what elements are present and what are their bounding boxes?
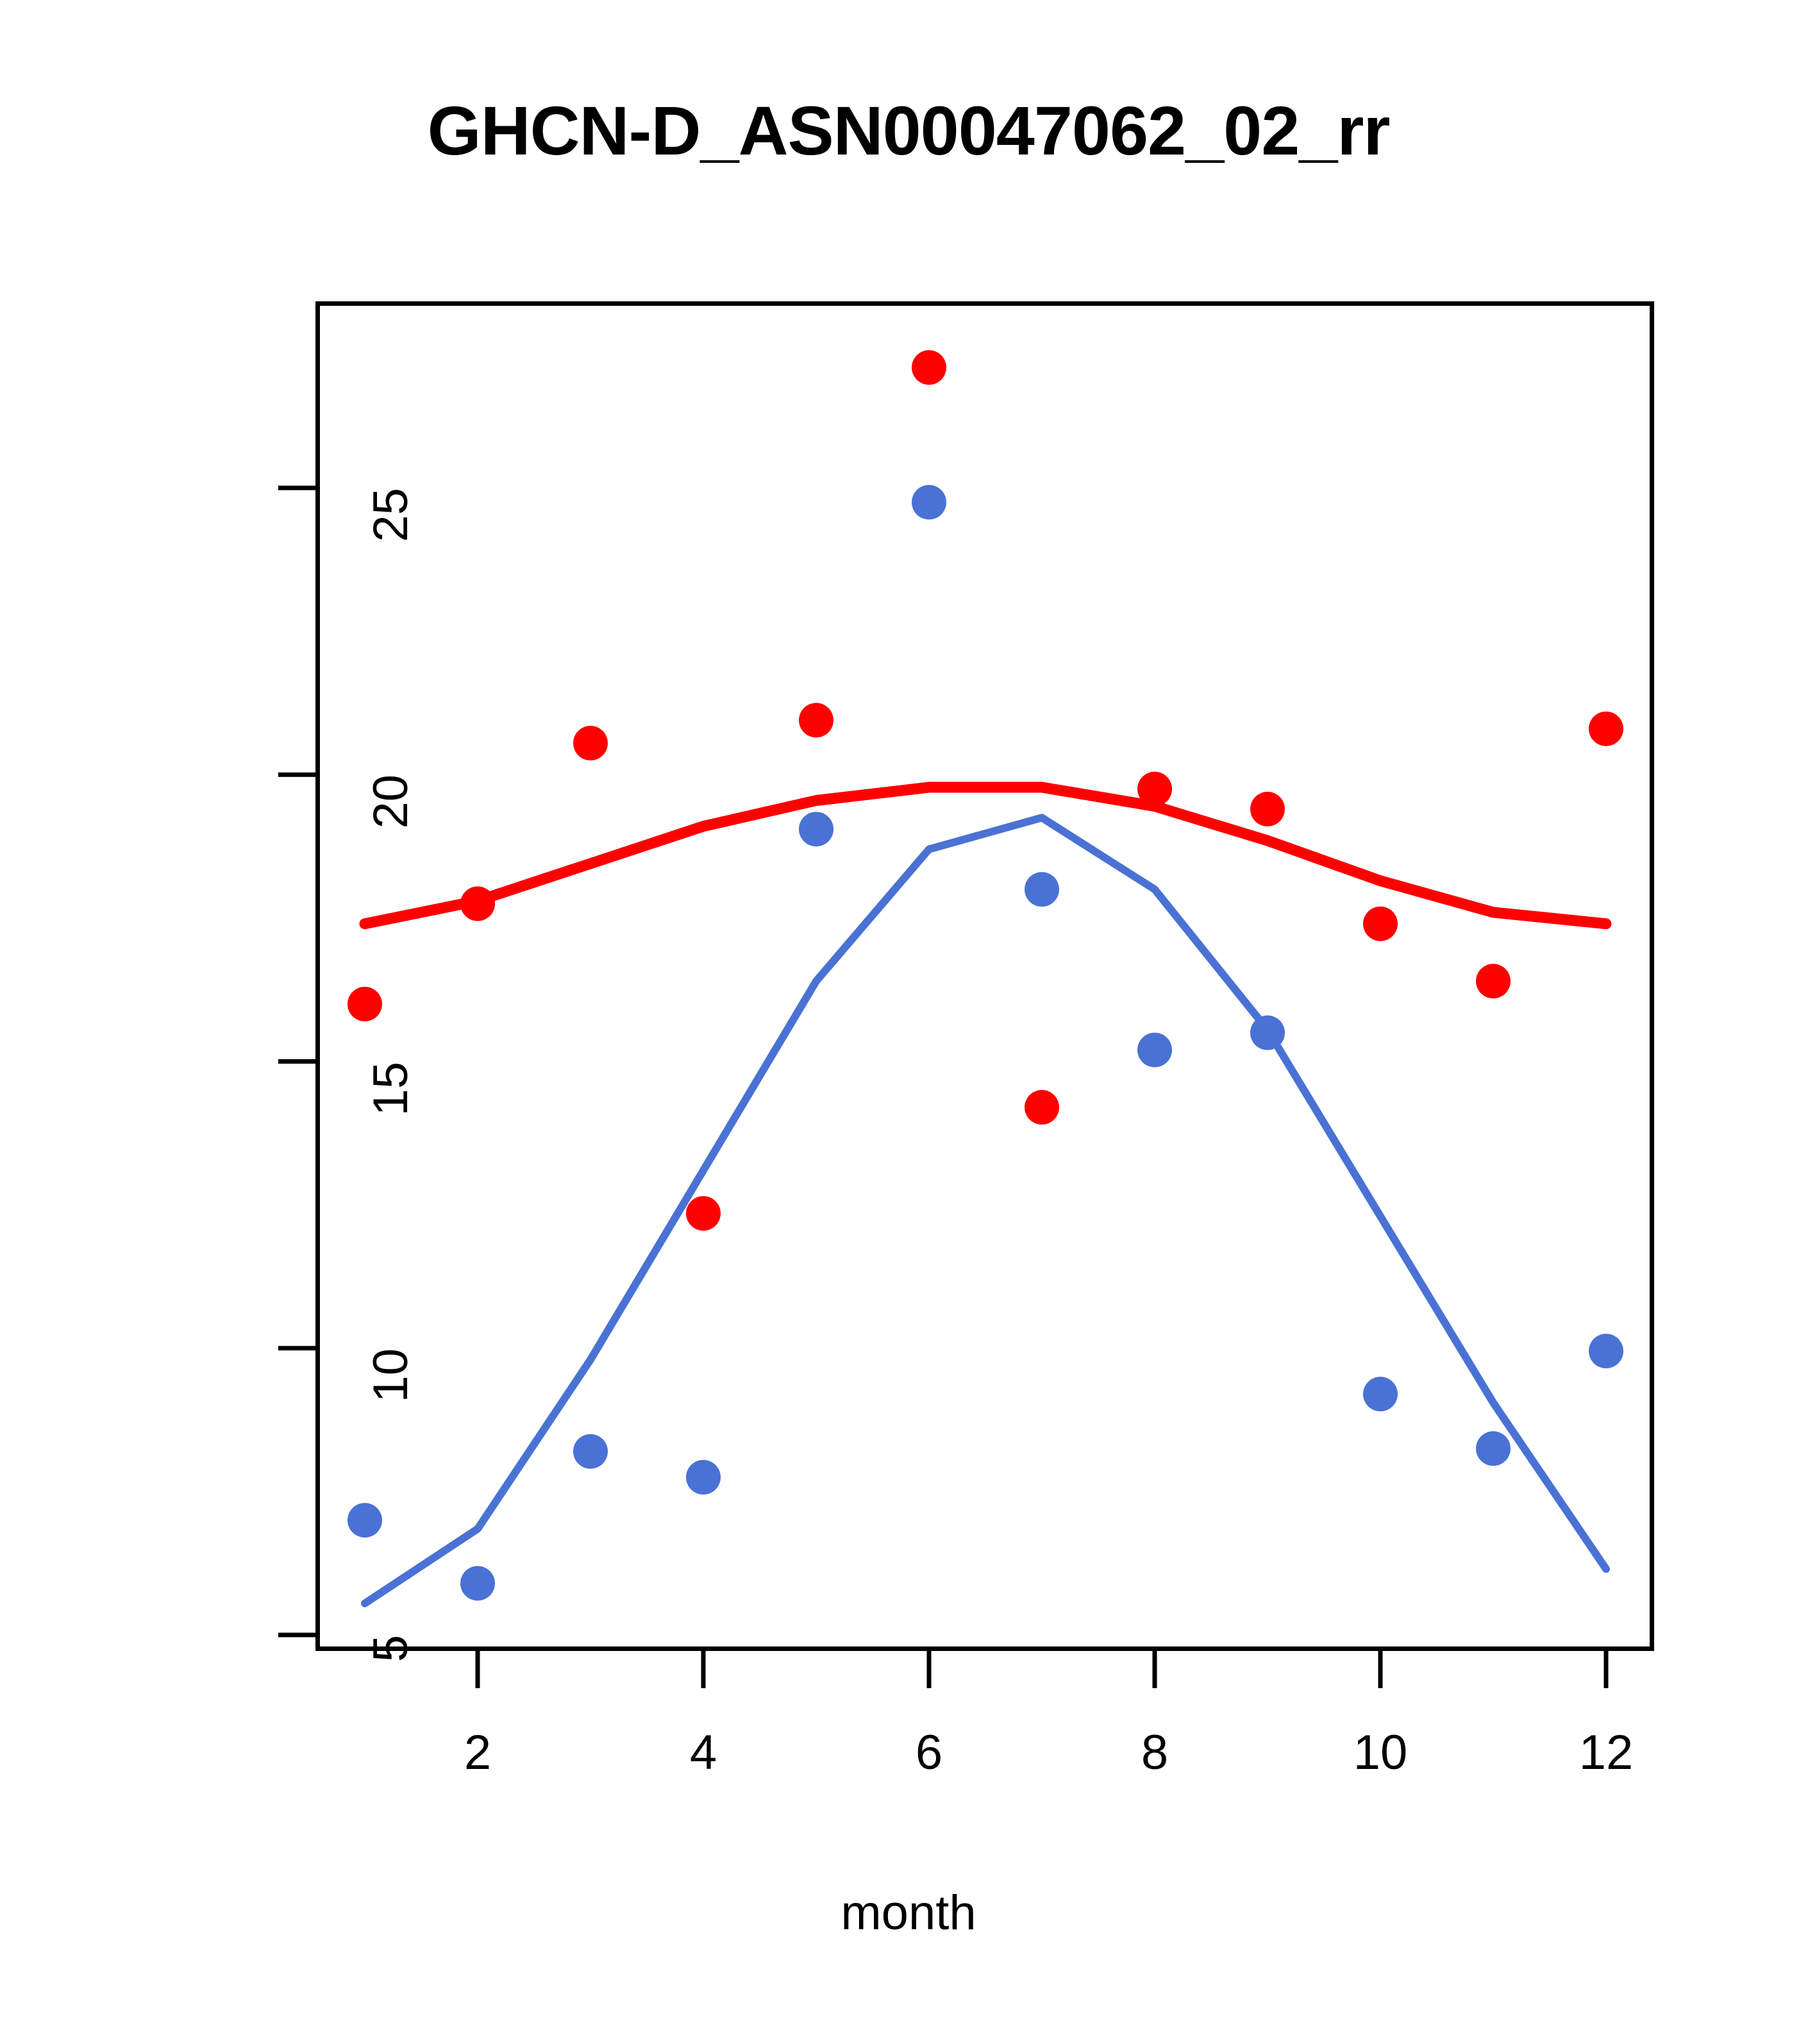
x-tick-label: 4 — [639, 1725, 767, 1780]
x-axis-label: month — [0, 1885, 1817, 1941]
plot-area — [315, 301, 1654, 1651]
y-tick-label: 20 — [363, 775, 419, 903]
y-tick-label: 15 — [363, 1062, 419, 1190]
x-tick-label: 6 — [865, 1725, 993, 1780]
x-tick-label: 12 — [1542, 1725, 1670, 1780]
page-title: GHCN-D_ASN00047062_02_rr — [0, 96, 1817, 165]
x-tick-label: 2 — [414, 1725, 542, 1780]
x-tick-label: 8 — [1091, 1725, 1219, 1780]
chart-page: GHCN-D_ASN00047062_02_rr 510152025 24681… — [0, 0, 1817, 2044]
y-tick-label: 25 — [363, 488, 419, 616]
x-tick-label: 10 — [1316, 1725, 1444, 1780]
y-tick-label: 10 — [363, 1348, 419, 1477]
y-tick-label: 5 — [363, 1635, 419, 1763]
